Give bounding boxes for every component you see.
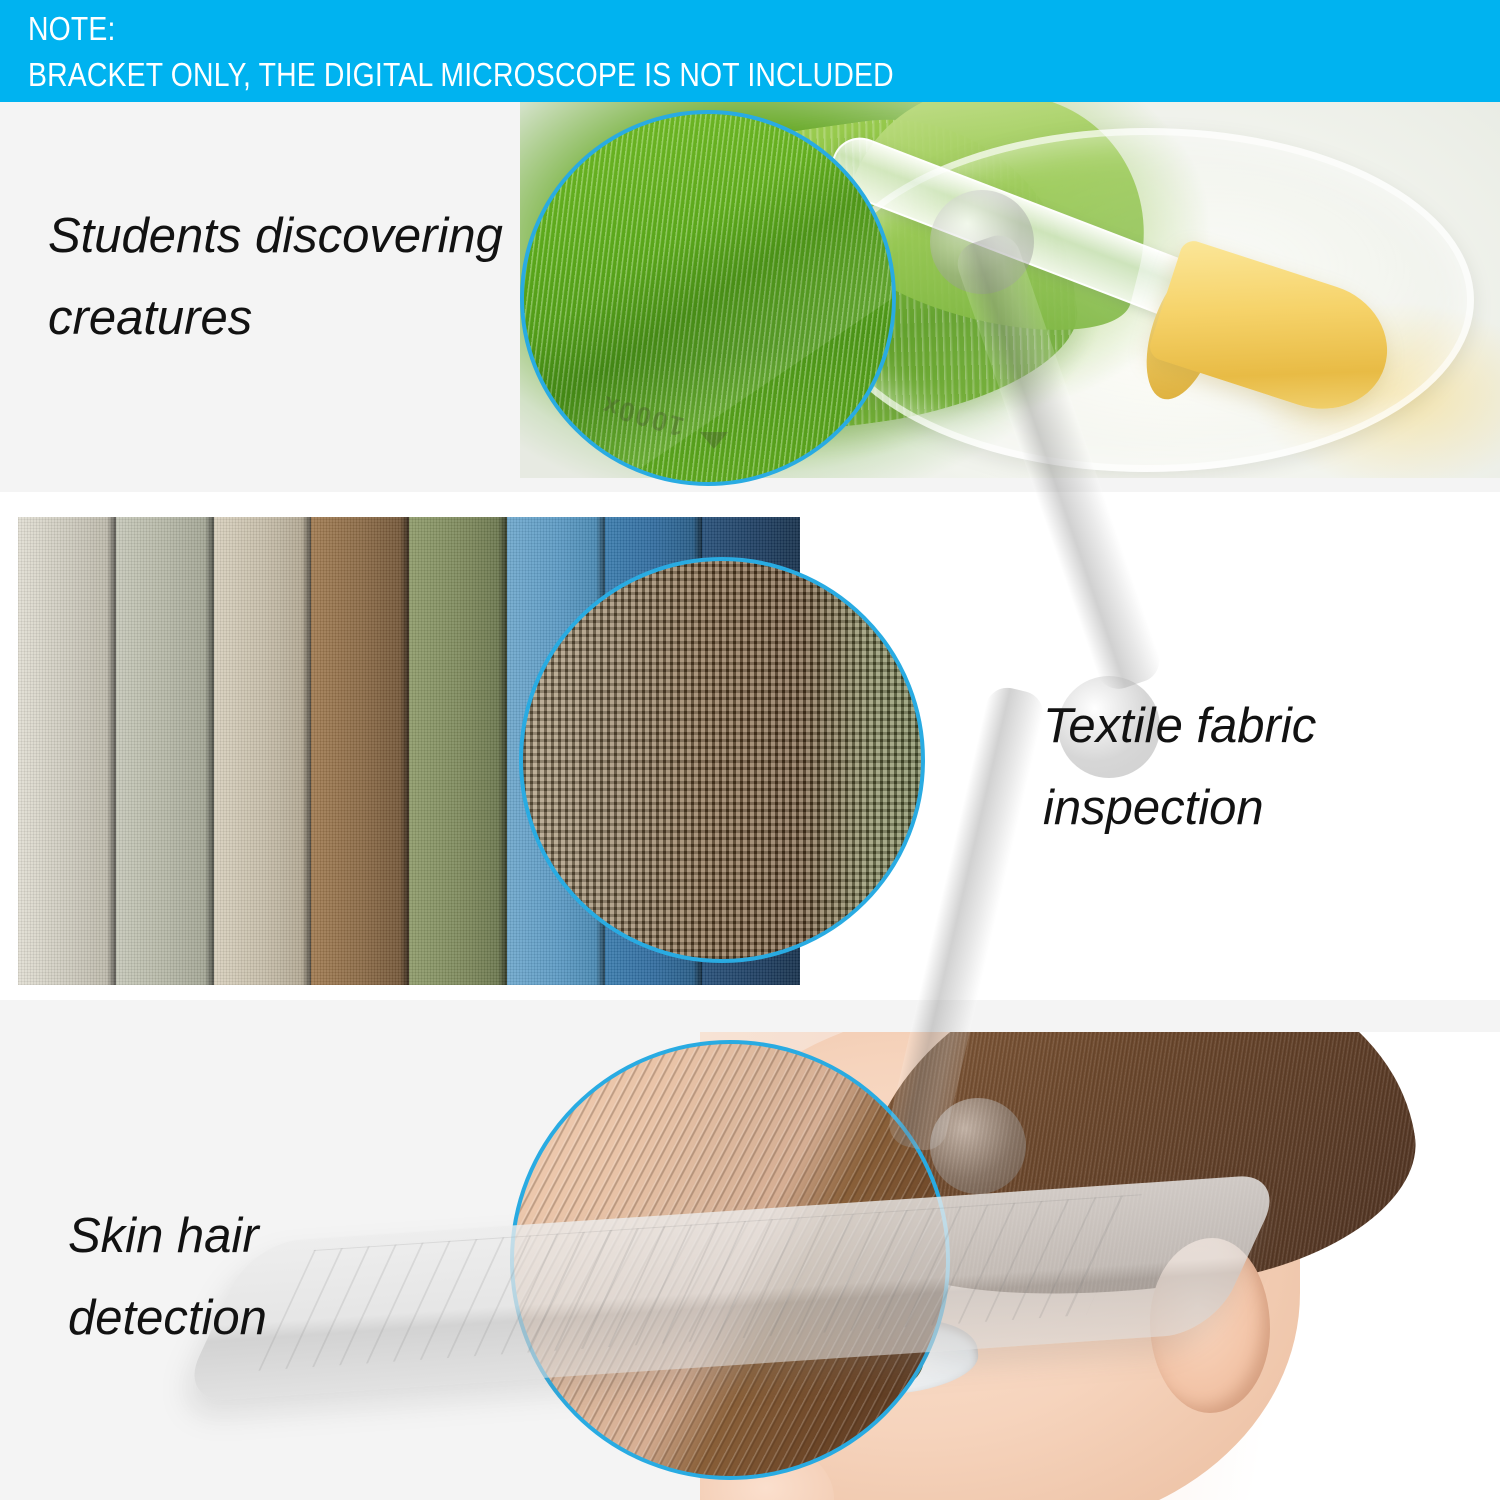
caption-students-discovering-creatures: Students discovering creatures — [48, 195, 503, 359]
magnifier-circle-hair — [510, 1040, 950, 1480]
fabric-bolt — [311, 517, 409, 985]
leaf-vein-band — [520, 110, 896, 486]
fabric-bolt — [116, 517, 214, 985]
product-feature-image: NOTE: BRACKET ONLY, THE DIGITAL MICROSCO… — [0, 0, 1500, 1500]
magnifier-circle-fabric — [519, 557, 925, 963]
caption-textile-fabric-inspection: Textile fabric inspection — [1043, 685, 1316, 849]
note-text: BRACKET ONLY, THE DIGITAL MICROSCOPE IS … — [28, 52, 1294, 98]
hair-strands-texture — [514, 1044, 946, 1476]
caption-skin-hair-detection: Skin hair detection — [68, 1195, 267, 1359]
fabric-bolt — [18, 517, 116, 985]
fabric-bolt — [409, 517, 507, 985]
magnifier-circle-leaf — [520, 110, 896, 486]
fabric-bolt — [214, 517, 312, 985]
note-label: NOTE: — [28, 6, 1294, 52]
magnification-caret-icon — [700, 432, 728, 449]
face-ear-shape — [1150, 1238, 1270, 1413]
note-banner: NOTE: BRACKET ONLY, THE DIGITAL MICROSCO… — [0, 0, 1500, 102]
